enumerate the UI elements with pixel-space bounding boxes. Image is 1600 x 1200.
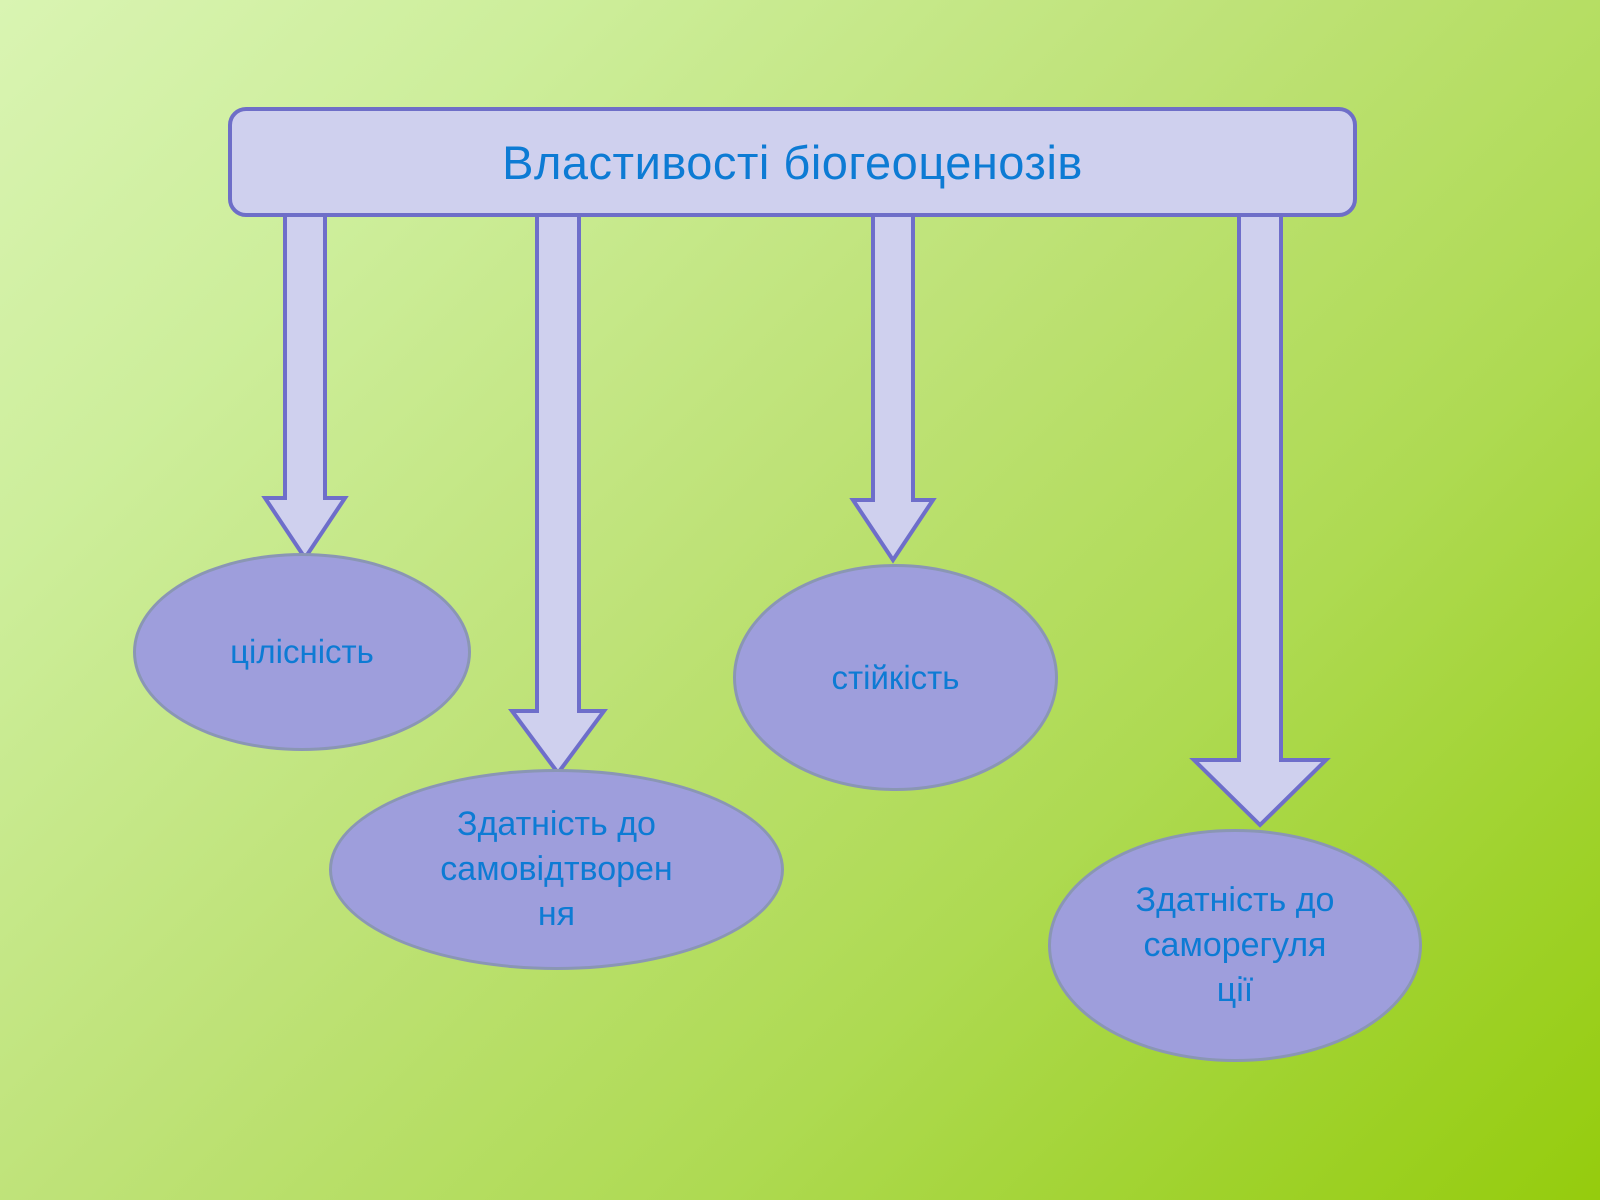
node-stability: стійкість <box>733 564 1058 791</box>
arrow-shape <box>853 210 933 560</box>
arrow-to-selfreprod <box>510 210 606 776</box>
arrow-shape <box>512 210 604 773</box>
arrow-shape <box>1194 210 1326 825</box>
diagram-title-box: Властивості біогеоценозів <box>228 107 1357 217</box>
slide-canvas: Властивості біогеоценозів цілісність Зда… <box>0 0 1600 1200</box>
node-integrity: цілісність <box>133 553 471 751</box>
node-label-self-regulation: Здатність до саморегуля ції <box>1051 878 1419 1013</box>
arrow-shape <box>265 210 345 558</box>
node-label-stability: стійкість <box>818 656 974 700</box>
node-self-reproduction: Здатність до самовідтворен ня <box>329 769 784 970</box>
arrow-to-selfregul <box>1192 210 1328 828</box>
node-label-integrity: цілісність <box>216 630 388 674</box>
arrow-to-stability <box>851 210 935 562</box>
arrow-to-integrity <box>263 210 347 560</box>
node-self-regulation: Здатність до саморегуля ції <box>1048 829 1422 1062</box>
page-title: Властивості біогеоценозів <box>502 139 1083 186</box>
node-label-self-reproduction: Здатність до самовідтворен ня <box>332 802 781 937</box>
